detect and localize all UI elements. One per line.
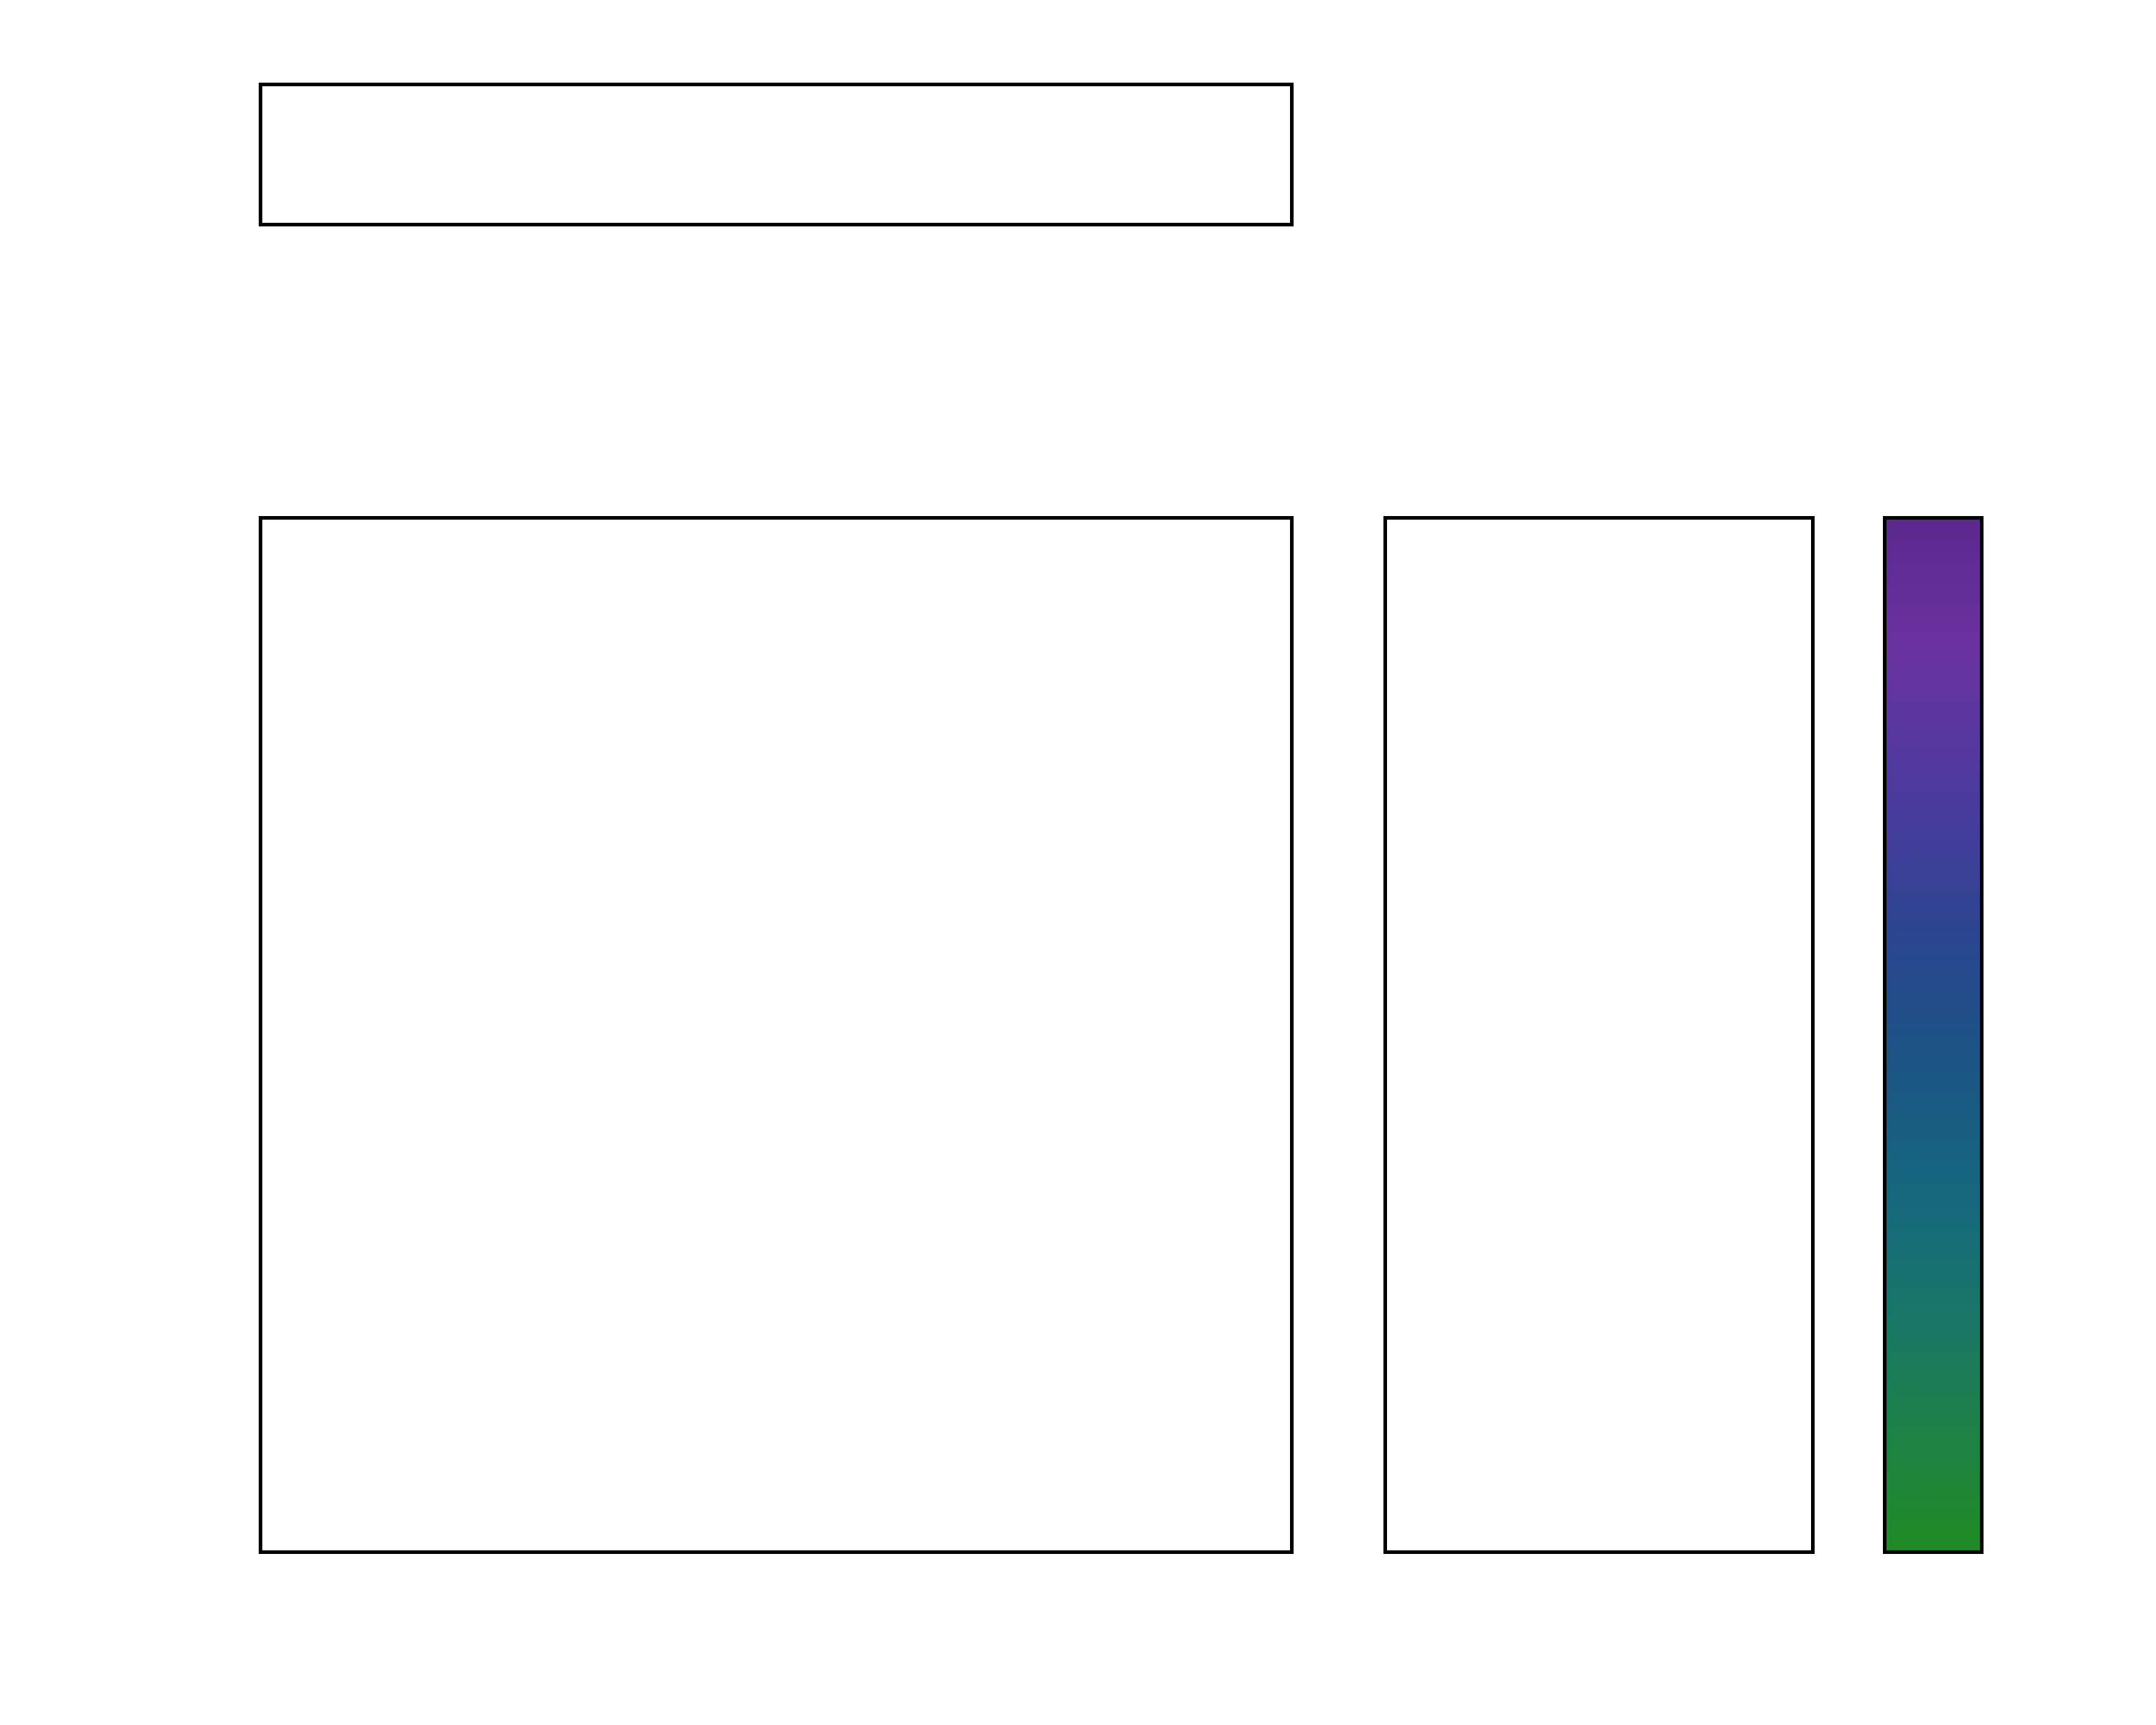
colorbar-ticks xyxy=(1883,503,2027,1624)
top-histogram-ticks xyxy=(216,72,1337,316)
figure-root xyxy=(0,0,2156,1725)
main-heatmap-ticks xyxy=(216,503,1337,1624)
right-histogram-ticks xyxy=(1340,503,1858,1624)
